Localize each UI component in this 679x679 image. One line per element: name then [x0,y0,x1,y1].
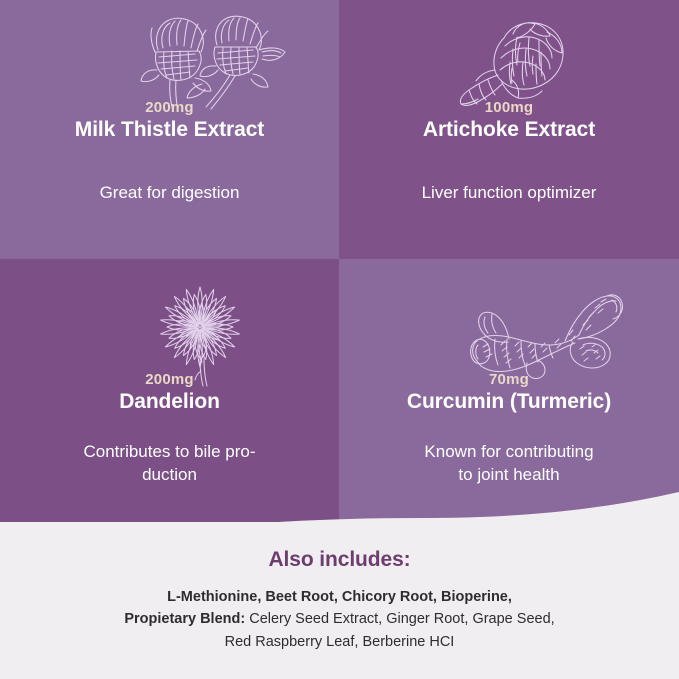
milk-thistle-name: Milk Thistle Extract [0,118,339,142]
dandelion-name: Dandelion [0,390,339,414]
curcumin-benefit-block: Known for contributing to joint health [339,441,679,487]
artichoke-dose: 100mg [339,100,679,117]
dandelion-benefit-block: Contributes to bile pro- duction [0,441,339,487]
also-includes-line-2: Propietary Blend: Celery Seed Extract, G… [0,608,679,630]
ingredient-card-artichoke: 100mg Artichoke Extract Liver function o… [339,0,679,259]
supplement-ingredients-infographic: 200mg Milk Thistle Extract Great for dig… [0,0,679,679]
artichoke-benefit: Liver function optimizer [339,182,679,205]
ingredient-card-milk-thistle: 200mg Milk Thistle Extract Great for dig… [0,0,339,259]
curcumin-name: Curcumin (Turmeric) [339,390,679,414]
ingredient-grid: 200mg Milk Thistle Extract Great for dig… [0,0,679,522]
artichoke-heading-block: 100mg Artichoke Extract [339,100,679,142]
curcumin-benefit: Known for contributing to joint health [363,441,655,487]
also-includes-section: Also includes: L-Methionine, Beet Root, … [0,548,679,653]
artichoke-name: Artichoke Extract [339,118,679,142]
also-includes-title: Also includes: [0,548,679,572]
curcumin-heading-block: 70mg Curcumin (Turmeric) [339,372,679,414]
also-includes-line-3: Red Raspberry Leaf, Berberine HCI [0,631,679,653]
proprietary-blend-label: Propietary Blend: [124,611,245,627]
proprietary-blend-items: Celery Seed Extract, Ginger Root, Grape … [245,611,554,627]
ingredient-card-dandelion: 200mg Dandelion Contributes to bile pro-… [0,259,339,522]
artichoke-benefit-block: Liver function optimizer [339,182,679,205]
ingredient-card-curcumin: 70mg Curcumin (Turmeric) Known for contr… [339,259,679,522]
milk-thistle-benefit: Great for digestion [0,182,339,205]
milk-thistle-benefit-block: Great for digestion [0,182,339,205]
milk-thistle-heading-block: 200mg Milk Thistle Extract [0,100,339,142]
milk-thistle-dose: 200mg [0,100,339,117]
dandelion-heading-block: 200mg Dandelion [0,372,339,414]
dandelion-dose: 200mg [0,372,339,389]
also-includes-line-1: L-Methionine, Beet Root, Chicory Root, B… [0,586,679,608]
curcumin-dose: 70mg [339,372,679,389]
dandelion-benefit: Contributes to bile pro- duction [28,441,311,487]
also-includes-list: L-Methionine, Beet Root, Chicory Root, B… [0,586,679,653]
